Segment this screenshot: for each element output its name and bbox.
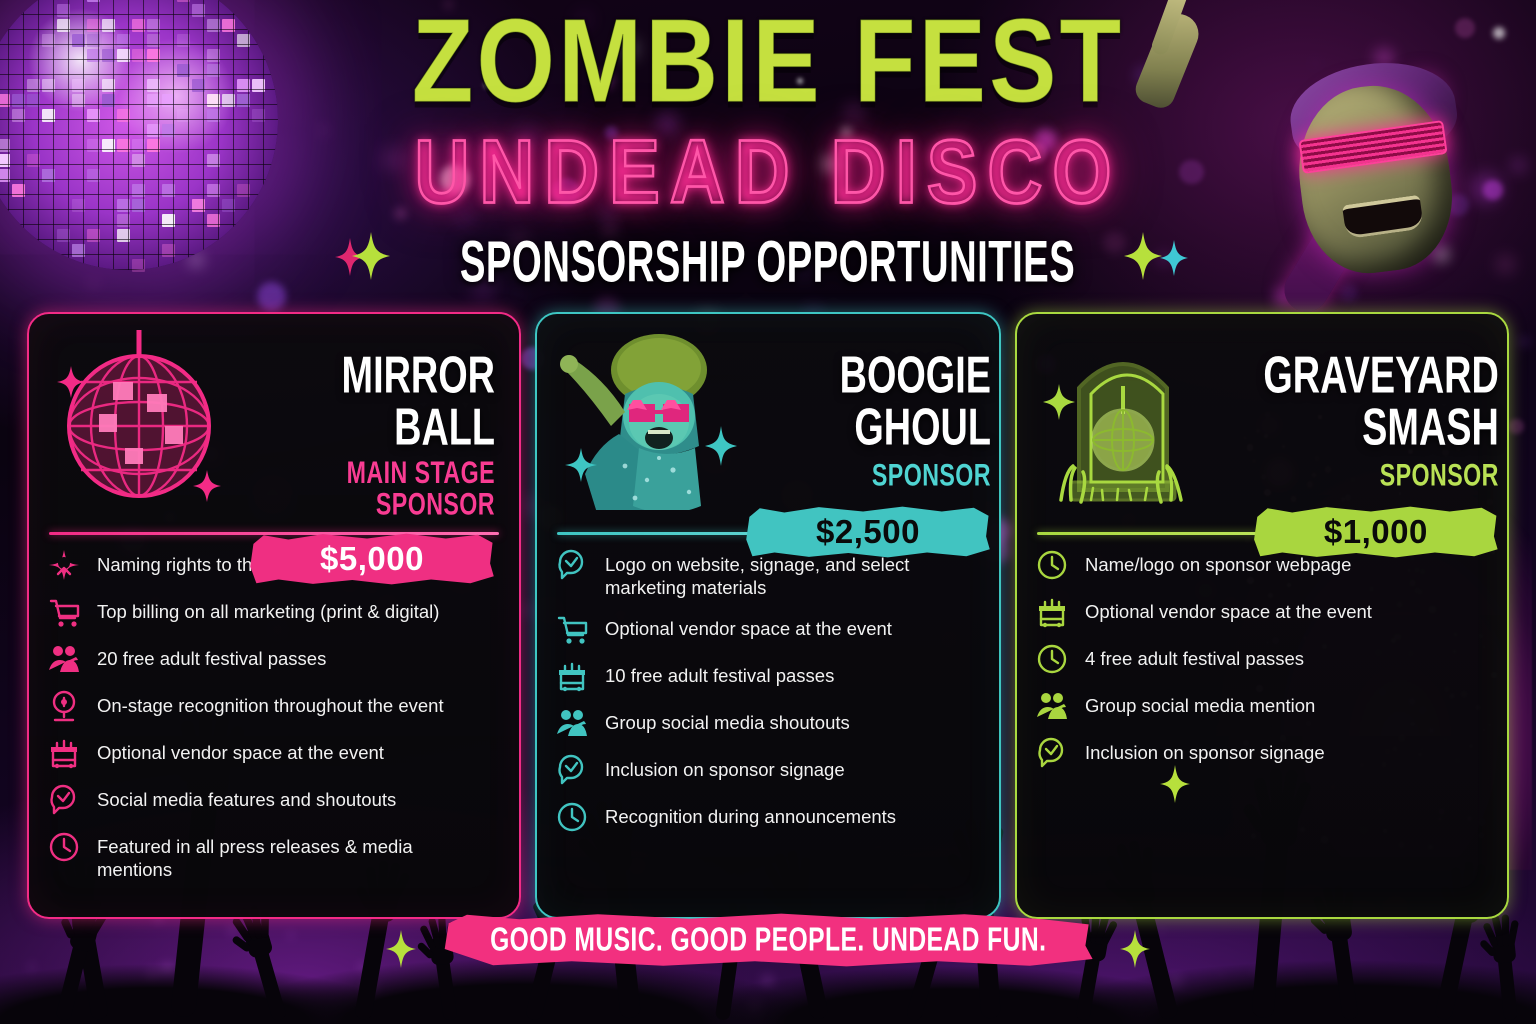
sparkle-star-icon xyxy=(352,232,390,280)
tier-name: MIRROR BALL xyxy=(273,350,495,454)
people-group-icon xyxy=(47,642,81,676)
benefit-item: Optional vendor space at the event xyxy=(555,615,981,646)
benefit-item: Inclusion on sponsor signage xyxy=(555,756,981,787)
benefits-list: Naming rights to the Main StageTop billi… xyxy=(47,551,501,881)
benefit-item: 10 free adult festival passes xyxy=(555,662,981,693)
boogie-ghoul-art xyxy=(555,330,739,510)
page-title: ZOMBIE FEST xyxy=(0,4,1536,118)
sparkle-star-icon xyxy=(1120,930,1150,968)
benefit-item: On-stage recognition throughout the even… xyxy=(47,692,501,723)
mirror-ball-illustration xyxy=(47,330,231,510)
tagline-banner: GOOD MUSIC. GOOD PEOPLE. UNDEAD FUN. xyxy=(441,912,1095,968)
sparkle-star-icon xyxy=(1124,232,1162,280)
people-group-icon xyxy=(1035,689,1069,723)
tier-price-wrap: $1,000 xyxy=(1225,505,1499,559)
speech-bubble-icon xyxy=(555,548,589,582)
benefit-text: Inclusion on sponsor signage xyxy=(1085,739,1325,765)
poster-header: ZOMBIE FEST UNDEAD DISCO SPONSORSHIP OPP… xyxy=(0,14,1536,290)
disco-ball-art xyxy=(47,330,231,510)
benefit-text: Optional vendor space at the event xyxy=(605,615,892,641)
tier-card-graveyard-smash[interactable]: GRAVEYARD SMASH SPONSOR $1,000 Name/logo… xyxy=(1015,312,1509,919)
tier-card-titles: MIRROR BALL MAIN STAGE SPONSOR $5,000 xyxy=(237,330,501,586)
benefit-text: 10 free adult festival passes xyxy=(605,662,834,688)
sponsorship-tier-cards: MIRROR BALL MAIN STAGE SPONSOR $5,000 Na… xyxy=(0,312,1536,919)
benefits-list: Logo on website, signage, and select mar… xyxy=(555,551,981,834)
tier-subtitle: SPONSOR xyxy=(1263,460,1499,491)
sparkle-star-icon xyxy=(47,548,81,582)
tier-subtitle: MAIN STAGE SPONSOR xyxy=(273,458,495,521)
sparkle-star-icon xyxy=(1160,765,1190,803)
tier-price-badge: $2,500 xyxy=(745,505,991,559)
benefit-text: On-stage recognition throughout the even… xyxy=(97,692,444,718)
tier-card-titles: BOOGIE GHOUL SPONSOR $2,500 xyxy=(745,330,997,559)
clock-icon xyxy=(1035,548,1069,582)
vendor-booth-icon xyxy=(1035,595,1069,629)
page-subtitle-neon: UNDEAD DISCO xyxy=(0,128,1536,218)
tier-name: GRAVEYARD SMASH xyxy=(1263,350,1499,454)
benefit-item: Top billing on all marketing (print & di… xyxy=(47,598,501,629)
section-title: SPONSORSHIP OPPORTUNITIES xyxy=(460,229,1075,296)
sparkle-star-icon xyxy=(386,930,416,968)
shopping-cart-icon xyxy=(47,595,81,629)
tombstone-illustration xyxy=(1035,330,1219,510)
benefit-item: Inclusion on sponsor signage xyxy=(1035,739,1489,770)
tier-name: BOOGIE GHOUL xyxy=(779,350,991,454)
tombstone-art xyxy=(1035,330,1219,510)
tier-card-header: MIRROR BALL MAIN STAGE SPONSOR $5,000 xyxy=(47,330,501,518)
poster-canvas: ZOMBIE FEST UNDEAD DISCO SPONSORSHIP OPP… xyxy=(0,0,1536,1024)
tagline-text: GOOD MUSIC. GOOD PEOPLE. UNDEAD FUN. xyxy=(490,921,1046,959)
benefit-text: 20 free adult festival passes xyxy=(97,645,326,671)
tier-card-boogie-ghoul[interactable]: BOOGIE GHOUL SPONSOR $2,500 Logo on webs… xyxy=(535,312,1001,919)
benefit-text: Group social media shoutouts xyxy=(605,709,850,735)
shopping-cart-icon xyxy=(555,612,589,646)
benefit-item: Group social media mention xyxy=(1035,692,1489,723)
tier-price-badge: $5,000 xyxy=(249,532,495,586)
people-group-icon xyxy=(555,706,589,740)
benefit-item: Optional vendor space at the event xyxy=(1035,598,1489,629)
benefit-text: Recognition during announcements xyxy=(605,803,896,829)
benefit-text: Inclusion on sponsor signage xyxy=(605,756,845,782)
sparkle-star-icon xyxy=(1160,240,1188,276)
benefit-text: 4 free adult festival passes xyxy=(1085,645,1304,671)
speech-bubble-icon xyxy=(555,753,589,787)
benefit-item: Featured in all press releases & media m… xyxy=(47,833,501,881)
benefit-item: 20 free adult festival passes xyxy=(47,645,501,676)
microphone-stage-icon xyxy=(47,689,81,723)
tier-price-wrap: $5,000 xyxy=(237,532,495,586)
benefits-list: Name/logo on sponsor webpageOptional ven… xyxy=(1035,551,1489,770)
vendor-booth-icon xyxy=(47,736,81,770)
tier-card-mirror-ball[interactable]: MIRROR BALL MAIN STAGE SPONSOR $5,000 Na… xyxy=(27,312,521,919)
vendor-booth-icon xyxy=(555,659,589,693)
benefit-text: Top billing on all marketing (print & di… xyxy=(97,598,439,624)
benefit-text: Group social media mention xyxy=(1085,692,1315,718)
tier-price-wrap: $2,500 xyxy=(745,505,991,559)
speech-bubble-icon xyxy=(47,783,81,817)
poster-footer: GOOD MUSIC. GOOD PEOPLE. UNDEAD FUN. xyxy=(0,912,1536,968)
benefit-item: Group social media shoutouts xyxy=(555,709,981,740)
benefit-item: Recognition during announcements xyxy=(555,803,981,834)
tier-card-header: BOOGIE GHOUL SPONSOR $2,500 xyxy=(555,330,981,518)
benefit-item: 4 free adult festival passes xyxy=(1035,645,1489,676)
benefit-text: Optional vendor space at the event xyxy=(97,739,384,765)
benefit-text: Social media features and shoutouts xyxy=(97,786,396,812)
boogie-ghoul-illustration xyxy=(555,330,739,510)
speech-bubble-icon xyxy=(1035,736,1069,770)
tier-card-header: GRAVEYARD SMASH SPONSOR $1,000 xyxy=(1035,330,1489,518)
tier-card-titles: GRAVEYARD SMASH SPONSOR $1,000 xyxy=(1225,330,1505,559)
benefit-item: Optional vendor space at the event xyxy=(47,739,501,770)
tier-price-badge: $1,000 xyxy=(1253,505,1499,559)
clock-icon xyxy=(555,800,589,834)
benefit-item: Social media features and shoutouts xyxy=(47,786,501,817)
benefit-text: Optional vendor space at the event xyxy=(1085,598,1372,624)
benefit-text: Featured in all press releases & media m… xyxy=(97,833,455,881)
clock-icon xyxy=(1035,642,1069,676)
clock-icon xyxy=(47,830,81,864)
tier-subtitle: SPONSOR xyxy=(779,460,991,491)
